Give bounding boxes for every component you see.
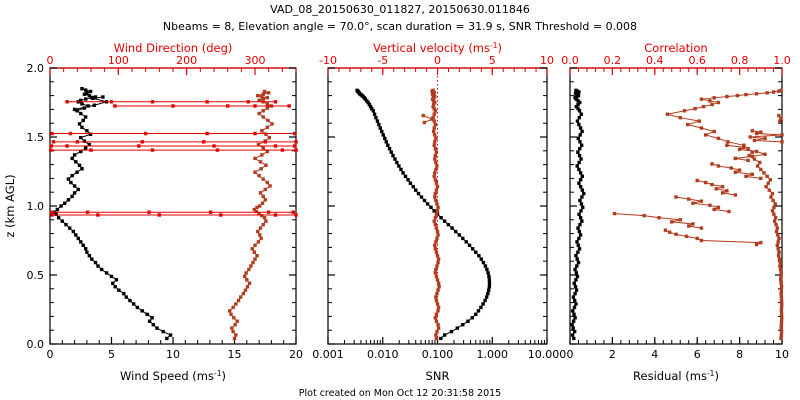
bottom-tick-label: 10.000 bbox=[528, 348, 567, 361]
data-point bbox=[779, 282, 782, 285]
data-point bbox=[756, 164, 759, 167]
data-point bbox=[80, 87, 83, 90]
data-point bbox=[751, 173, 754, 176]
y-tick-label: 0.5 bbox=[27, 269, 45, 282]
data-point bbox=[573, 292, 576, 295]
data-point bbox=[231, 306, 234, 309]
data-point bbox=[144, 132, 147, 135]
data-point bbox=[579, 178, 582, 181]
data-point bbox=[712, 130, 715, 133]
data-point bbox=[776, 240, 779, 243]
data-point bbox=[674, 195, 677, 198]
data-point bbox=[573, 306, 576, 309]
data-point bbox=[294, 148, 297, 151]
data-point bbox=[262, 146, 265, 149]
data-point bbox=[666, 113, 669, 116]
data-point bbox=[700, 126, 703, 129]
data-point bbox=[443, 219, 446, 222]
data-point bbox=[715, 187, 718, 190]
data-point bbox=[148, 320, 151, 323]
bottom-axis-label: Residual (ms-1) bbox=[633, 369, 719, 383]
data-point bbox=[767, 182, 770, 185]
data-point bbox=[49, 148, 52, 151]
data-point bbox=[264, 219, 267, 222]
data-point bbox=[759, 177, 762, 180]
data-point bbox=[577, 261, 580, 264]
data-point bbox=[483, 299, 486, 302]
data-point bbox=[435, 299, 438, 302]
data-point bbox=[759, 168, 762, 171]
data-point bbox=[84, 97, 87, 100]
data-point bbox=[484, 264, 487, 267]
data-point bbox=[85, 251, 88, 254]
data-point bbox=[101, 95, 104, 98]
data-point bbox=[72, 230, 75, 233]
data-point bbox=[717, 101, 720, 104]
data-point bbox=[73, 108, 76, 111]
data-point bbox=[388, 147, 391, 150]
data-point bbox=[574, 278, 577, 281]
data-point bbox=[70, 157, 73, 160]
data-point bbox=[780, 323, 783, 326]
data-point bbox=[577, 213, 580, 216]
data-point bbox=[577, 123, 580, 126]
data-point bbox=[258, 233, 261, 236]
data-point bbox=[266, 106, 269, 109]
data-point bbox=[435, 330, 438, 333]
data-point bbox=[266, 181, 269, 184]
data-point bbox=[759, 130, 762, 133]
bottom-tick-label: 0 bbox=[567, 348, 574, 361]
data-point bbox=[439, 216, 442, 219]
data-point bbox=[576, 257, 579, 260]
bottom-axis-label: SNR bbox=[426, 369, 450, 383]
data-point bbox=[294, 140, 297, 143]
data-point bbox=[115, 278, 118, 281]
y-tick-label: 0.0 bbox=[27, 338, 45, 351]
data-point bbox=[237, 299, 240, 302]
data-point bbox=[433, 195, 436, 198]
data-point bbox=[780, 306, 783, 309]
top-tick-label: 0 bbox=[47, 54, 54, 67]
series-line bbox=[665, 230, 760, 244]
data-point bbox=[435, 320, 438, 323]
top-tick-label: 10 bbox=[540, 54, 554, 67]
data-point bbox=[52, 140, 55, 143]
data-point bbox=[386, 144, 389, 147]
data-point bbox=[470, 316, 473, 319]
data-point bbox=[96, 213, 99, 216]
data-point bbox=[779, 271, 782, 274]
data-point bbox=[281, 148, 284, 151]
data-point bbox=[721, 191, 724, 194]
data-point bbox=[165, 337, 168, 340]
data-point bbox=[105, 271, 108, 274]
data-point bbox=[755, 132, 758, 135]
data-point bbox=[579, 233, 582, 236]
data-point bbox=[738, 148, 741, 151]
data-point bbox=[574, 254, 577, 257]
data-point bbox=[434, 333, 437, 336]
data-point bbox=[94, 261, 97, 264]
data-point bbox=[113, 104, 116, 107]
data-point bbox=[434, 295, 437, 298]
data-point bbox=[573, 316, 576, 319]
data-point bbox=[262, 109, 265, 112]
data-point bbox=[736, 94, 739, 97]
data-point bbox=[576, 226, 579, 229]
data-point bbox=[50, 213, 53, 216]
data-point bbox=[776, 244, 779, 247]
data-point bbox=[406, 178, 409, 181]
bottom-tick-label: 1.000 bbox=[477, 348, 509, 361]
data-point bbox=[779, 89, 782, 92]
data-point bbox=[687, 197, 690, 200]
data-point bbox=[136, 306, 139, 309]
data-point bbox=[434, 247, 437, 250]
top-tick-label: 0.8 bbox=[731, 54, 749, 67]
data-point bbox=[161, 330, 164, 333]
data-point bbox=[456, 326, 459, 329]
data-point bbox=[434, 161, 437, 164]
data-point bbox=[575, 240, 578, 243]
data-point bbox=[231, 330, 234, 333]
data-point bbox=[435, 337, 438, 340]
data-point bbox=[80, 126, 83, 129]
data-point bbox=[257, 240, 260, 243]
data-point bbox=[76, 140, 79, 143]
data-point bbox=[89, 90, 92, 93]
data-point bbox=[772, 90, 775, 93]
data-point bbox=[122, 292, 125, 295]
data-point bbox=[251, 247, 254, 250]
data-point bbox=[773, 219, 776, 222]
data-point bbox=[59, 204, 62, 207]
data-point bbox=[433, 140, 436, 143]
data-point bbox=[710, 103, 713, 106]
data-point bbox=[434, 168, 437, 171]
data-point bbox=[777, 237, 780, 240]
data-point bbox=[717, 164, 720, 167]
data-point bbox=[450, 226, 453, 229]
data-layer bbox=[49, 87, 298, 340]
data-point bbox=[437, 306, 440, 309]
top-tick-label: 0 bbox=[434, 54, 441, 67]
data-point bbox=[744, 175, 747, 178]
data-point bbox=[64, 223, 67, 226]
data-point bbox=[274, 100, 277, 103]
data-point bbox=[262, 223, 265, 226]
plot-frame bbox=[570, 68, 782, 344]
data-point bbox=[763, 137, 766, 140]
data-point bbox=[73, 191, 76, 194]
data-point bbox=[141, 309, 144, 312]
data-point bbox=[575, 271, 578, 274]
data-point bbox=[434, 178, 437, 181]
data-point bbox=[259, 160, 262, 163]
data-point bbox=[262, 195, 265, 198]
series-line bbox=[668, 90, 782, 338]
data-point bbox=[435, 213, 438, 216]
data-point bbox=[435, 275, 438, 278]
data-point bbox=[578, 140, 581, 143]
data-point bbox=[234, 333, 237, 336]
data-point bbox=[85, 129, 88, 132]
data-point bbox=[249, 264, 252, 267]
data-point bbox=[778, 264, 781, 267]
top-axis: 0100200300 bbox=[47, 54, 297, 75]
data-point bbox=[572, 313, 575, 316]
bottom-tick-label: 15 bbox=[228, 348, 242, 361]
data-point bbox=[429, 206, 432, 209]
data-point bbox=[725, 144, 728, 147]
data-point bbox=[67, 198, 70, 201]
data-point bbox=[482, 261, 485, 264]
data-point bbox=[50, 144, 53, 147]
data-point bbox=[712, 96, 715, 99]
panel-3: 0.00.20.40.60.81.0Correlation0246810Resi… bbox=[561, 41, 791, 383]
data-point bbox=[581, 188, 584, 191]
data-point bbox=[471, 247, 474, 250]
data-point bbox=[205, 100, 208, 103]
data-point bbox=[247, 268, 250, 271]
data-point bbox=[755, 92, 758, 95]
data-point bbox=[73, 153, 76, 156]
data-point bbox=[65, 144, 68, 147]
data-point bbox=[450, 330, 453, 333]
data-point bbox=[274, 144, 277, 147]
data-point bbox=[74, 233, 77, 236]
data-point bbox=[251, 261, 254, 264]
data-point bbox=[56, 208, 59, 211]
data-point bbox=[380, 130, 383, 133]
data-point bbox=[487, 275, 490, 278]
data-point bbox=[717, 137, 720, 140]
plot-page: VAD_08_20150630_011827, 20150630.011846 … bbox=[0, 0, 800, 400]
data-point bbox=[779, 292, 782, 295]
bottom-tick-label: 0 bbox=[47, 348, 54, 361]
data-point bbox=[259, 226, 262, 229]
data-point bbox=[573, 330, 576, 333]
data-point bbox=[734, 193, 737, 196]
data-point bbox=[434, 199, 437, 202]
data-point bbox=[243, 275, 246, 278]
data-point bbox=[702, 105, 705, 108]
data-point bbox=[574, 89, 577, 92]
data-point bbox=[169, 333, 172, 336]
data-point bbox=[579, 157, 582, 160]
data-point bbox=[233, 337, 236, 340]
data-point bbox=[575, 264, 578, 267]
data-point bbox=[255, 254, 258, 257]
data-point bbox=[79, 240, 82, 243]
data-point bbox=[708, 204, 711, 207]
data-point bbox=[727, 210, 730, 213]
data-point bbox=[75, 170, 78, 173]
data-point bbox=[434, 271, 437, 274]
data-point bbox=[69, 132, 72, 135]
data-point bbox=[579, 126, 582, 129]
data-point bbox=[763, 153, 766, 156]
data-layer bbox=[355, 89, 491, 341]
data-point bbox=[436, 209, 439, 212]
data-point bbox=[780, 309, 783, 312]
top-tick-label: -10 bbox=[319, 54, 337, 67]
data-point bbox=[209, 211, 212, 214]
data-point bbox=[436, 254, 439, 257]
data-point bbox=[253, 251, 256, 254]
data-point bbox=[245, 278, 248, 281]
data-point bbox=[435, 292, 438, 295]
data-point bbox=[219, 213, 222, 216]
data-point bbox=[578, 116, 581, 119]
data-point bbox=[664, 228, 667, 231]
data-point bbox=[152, 323, 155, 326]
top-axis: 0.00.20.40.60.81.0 bbox=[561, 54, 791, 75]
data-point bbox=[461, 323, 464, 326]
data-point bbox=[580, 113, 583, 116]
data-point bbox=[780, 295, 783, 298]
data-point bbox=[578, 133, 581, 136]
data-point bbox=[576, 150, 579, 153]
data-point bbox=[779, 326, 782, 329]
data-point bbox=[228, 309, 231, 312]
data-point bbox=[578, 230, 581, 233]
data-point bbox=[50, 132, 53, 135]
data-point bbox=[253, 170, 256, 173]
bottom-axis: 0246810 bbox=[567, 337, 790, 361]
data-point bbox=[79, 136, 82, 139]
bottom-tick-label: 2 bbox=[609, 348, 616, 361]
data-point bbox=[77, 188, 80, 191]
data-point bbox=[468, 244, 471, 247]
data-point bbox=[769, 195, 772, 198]
data-point bbox=[147, 211, 150, 214]
data-point bbox=[287, 104, 290, 107]
data-point bbox=[679, 116, 682, 119]
data-point bbox=[580, 144, 583, 147]
data-point bbox=[436, 261, 439, 264]
data-point bbox=[670, 220, 673, 223]
data-point bbox=[259, 237, 262, 240]
data-point bbox=[572, 320, 575, 323]
data-point bbox=[780, 133, 783, 136]
data-point bbox=[683, 109, 686, 112]
data-point bbox=[433, 126, 436, 129]
data-point bbox=[433, 113, 436, 116]
data-point bbox=[700, 97, 703, 100]
data-point bbox=[435, 226, 438, 229]
data-point bbox=[244, 288, 247, 291]
data-point bbox=[577, 244, 580, 247]
data-point bbox=[433, 219, 436, 222]
data-point bbox=[244, 271, 247, 274]
bottom-tick-label: 20 bbox=[289, 348, 303, 361]
data-point bbox=[679, 218, 682, 221]
data-point bbox=[89, 148, 92, 151]
data-point bbox=[691, 222, 694, 225]
data-point bbox=[205, 132, 208, 135]
data-point bbox=[431, 89, 434, 92]
data-point bbox=[253, 244, 256, 247]
data-point bbox=[435, 150, 438, 153]
data-point bbox=[236, 320, 239, 323]
data-point bbox=[581, 175, 584, 178]
data-point bbox=[693, 107, 696, 110]
data-point bbox=[259, 167, 262, 170]
data-point bbox=[698, 119, 701, 122]
data-point bbox=[573, 299, 576, 302]
data-point bbox=[417, 192, 420, 195]
data-point bbox=[749, 135, 752, 138]
data-point bbox=[155, 326, 158, 329]
data-point bbox=[578, 223, 581, 226]
data-point bbox=[657, 216, 660, 219]
data-point bbox=[79, 112, 82, 115]
data-point bbox=[266, 126, 269, 129]
data-point bbox=[141, 140, 144, 143]
data-point bbox=[575, 288, 578, 291]
data-point bbox=[395, 161, 398, 164]
data-point bbox=[128, 299, 131, 302]
data-point bbox=[84, 88, 87, 91]
data-point bbox=[409, 182, 412, 185]
data-point bbox=[582, 192, 585, 195]
data-point bbox=[780, 333, 783, 336]
data-point bbox=[780, 299, 783, 302]
data-point bbox=[393, 157, 396, 160]
data-point bbox=[454, 230, 457, 233]
data-point bbox=[758, 161, 761, 164]
data-point bbox=[708, 99, 711, 102]
data-point bbox=[65, 100, 68, 103]
series-line bbox=[676, 197, 729, 211]
data-point bbox=[270, 122, 273, 125]
data-point bbox=[433, 175, 436, 178]
data-point bbox=[488, 285, 491, 288]
data-point bbox=[266, 96, 269, 99]
data-point bbox=[355, 89, 358, 92]
data-point bbox=[151, 100, 154, 103]
data-point bbox=[755, 150, 758, 153]
data-point bbox=[78, 122, 81, 125]
data-point bbox=[772, 213, 775, 216]
bottom-tick-label: 4 bbox=[651, 348, 658, 361]
data-point bbox=[744, 93, 747, 96]
data-point bbox=[746, 159, 749, 162]
bottom-axis-label: Wind Speed (ms-1) bbox=[120, 369, 226, 383]
bottom-axis: 0.0010.0100.1001.00010.000 bbox=[312, 337, 566, 361]
data-point bbox=[485, 268, 488, 271]
data-point bbox=[267, 211, 270, 214]
data-layer bbox=[570, 89, 783, 341]
data-point bbox=[239, 295, 242, 298]
data-point bbox=[717, 206, 720, 209]
data-point bbox=[779, 268, 782, 271]
data-point bbox=[771, 209, 774, 212]
data-point bbox=[668, 231, 671, 234]
data-point bbox=[578, 247, 581, 250]
data-point bbox=[481, 302, 484, 305]
data-point bbox=[704, 133, 707, 136]
data-point bbox=[261, 202, 264, 205]
data-point bbox=[262, 115, 265, 118]
data-point bbox=[751, 155, 754, 158]
data-point bbox=[465, 240, 468, 243]
data-point bbox=[293, 144, 296, 147]
data-point bbox=[576, 251, 579, 254]
data-point bbox=[433, 171, 436, 174]
